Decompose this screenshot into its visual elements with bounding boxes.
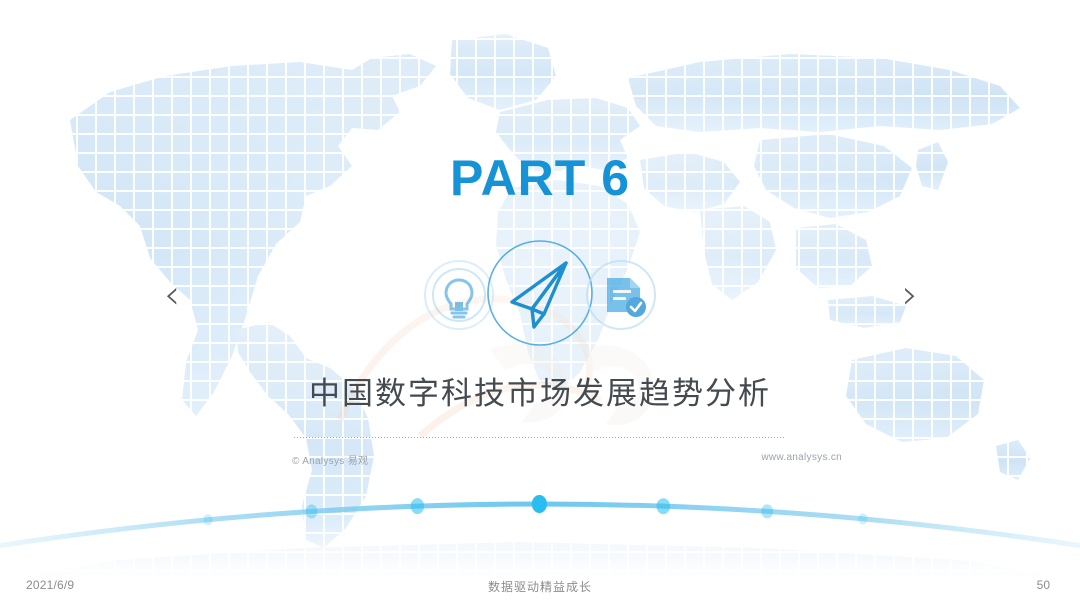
progress-dot[interactable] <box>203 514 212 525</box>
divider <box>294 437 786 438</box>
progress-dot-group <box>203 495 867 525</box>
copyright-label: © Analysys 易观 <box>292 452 368 467</box>
footer-tagline: 数据驱动精益成长 <box>0 578 1080 595</box>
progress-dot[interactable] <box>306 504 318 518</box>
slide-canvas: PART 6 ‹ › <box>0 0 1080 608</box>
part-label: PART 6 <box>0 148 1080 208</box>
icon-cluster <box>418 232 662 358</box>
progress-arc <box>0 460 1080 570</box>
slide-content: PART 6 ‹ › <box>0 0 1080 608</box>
progress-dot[interactable] <box>532 495 547 513</box>
progress-dot[interactable] <box>657 498 671 514</box>
progress-dot[interactable] <box>761 504 773 518</box>
progress-dot[interactable] <box>411 498 425 514</box>
page-title: 中国数字科技市场发展趋势分析 <box>0 372 1080 416</box>
progress-dot[interactable] <box>858 513 867 524</box>
page-number: 50 <box>1037 578 1050 592</box>
website-label: www.analysys.cn <box>761 452 842 463</box>
next-arrow-icon[interactable]: › <box>886 271 934 319</box>
document-check-icon <box>578 252 664 338</box>
previous-arrow-icon[interactable]: ‹ <box>148 271 196 319</box>
